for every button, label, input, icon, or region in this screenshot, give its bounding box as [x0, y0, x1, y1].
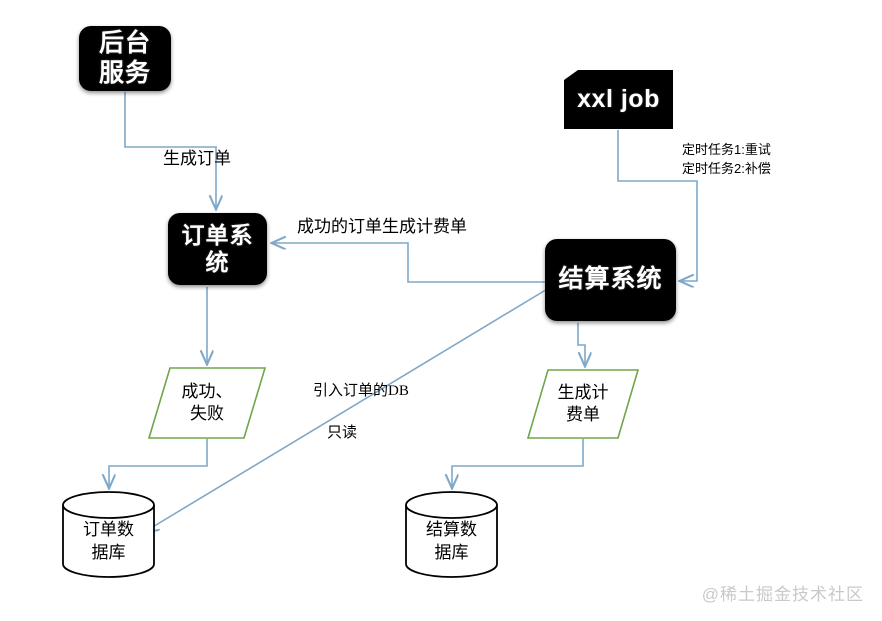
- node-order-db[interactable]: 订单数 据库: [62, 491, 155, 578]
- edge-bill-to-settlement-db: [452, 439, 583, 487]
- settlement-db-label: 结算数 据库: [405, 505, 498, 578]
- order-db-label: 订单数 据库: [62, 505, 155, 578]
- node-order-system[interactable]: 订单系 统: [168, 213, 267, 285]
- edge-result-to-order-db: [109, 439, 207, 487]
- node-xxl-job[interactable]: xxl job: [564, 70, 673, 129]
- node-settlement-system[interactable]: 结算系统: [545, 239, 676, 321]
- edge-label-import-order-db: 引入订单的DB: [313, 381, 409, 401]
- edge-label-timer-tasks: 定时任务1:重试 定时任务2:补偿: [682, 141, 771, 179]
- edge-label-create-order: 生成订单: [163, 148, 231, 171]
- edge-label-read-only: 只读: [327, 423, 357, 443]
- node-bill-doc[interactable]: 生成计 费单: [527, 369, 639, 439]
- edge-label-success-bill: 成功的订单生成计费单: [297, 216, 467, 239]
- diagram-canvas: 后台 服务 xxl job 订单系 统 结算系统 成功、 失败 生成计 费单 订…: [0, 0, 882, 621]
- edge-settlement-to-order-system: [273, 243, 545, 282]
- node-backend-service[interactable]: 后台 服务: [79, 26, 171, 91]
- watermark: @稀土掘金技术社区: [702, 580, 864, 605]
- node-result-doc[interactable]: 成功、 失败: [148, 367, 266, 439]
- edge-settlement-to-bill: [578, 323, 585, 365]
- bill-doc-label: 生成计 费单: [527, 369, 639, 439]
- node-settlement-db[interactable]: 结算数 据库: [405, 491, 498, 578]
- result-doc-label: 成功、 失败: [148, 367, 266, 439]
